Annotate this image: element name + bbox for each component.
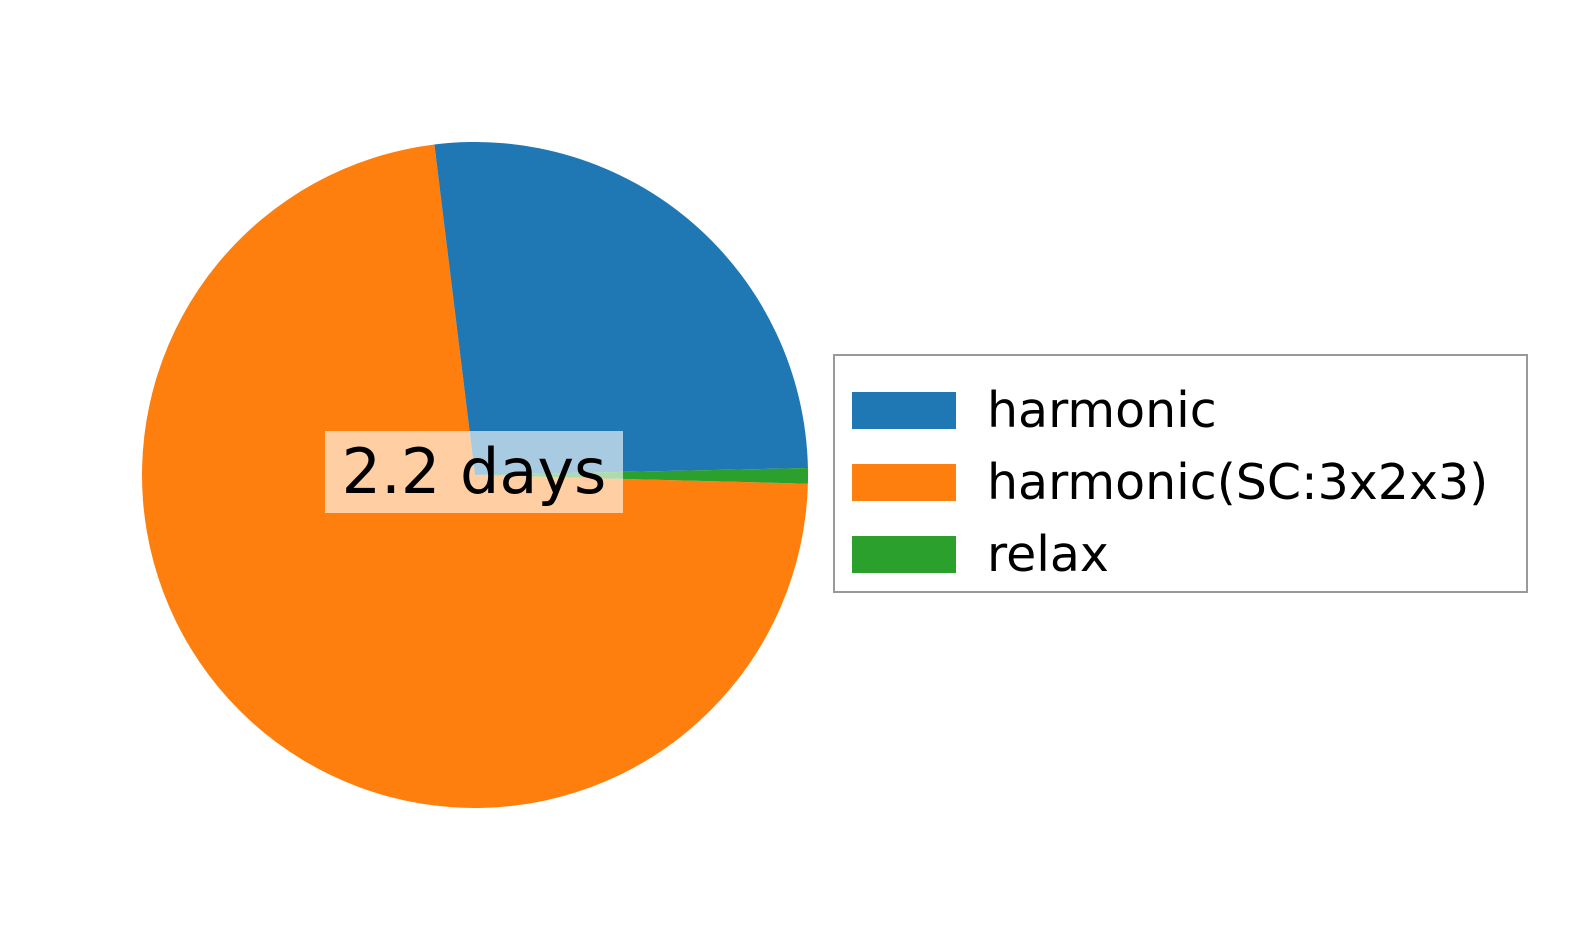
legend-label-relax: relax xyxy=(987,530,1109,579)
legend-swatch-harmonic-sc-3x2x3 xyxy=(852,464,956,501)
legend-entry-harmonic[interactable]: harmonic xyxy=(852,374,1488,446)
legend-swatch-relax xyxy=(852,536,956,573)
legend-label-harmonic-sc-3x2x3: harmonic(SC:3x2x3) xyxy=(987,458,1488,507)
figure-canvas: 2.2 days harmonic harmonic(SC:3x2x3) rel… xyxy=(0,0,1584,951)
center-annotation-box: 2.2 days xyxy=(325,431,623,513)
legend-swatch-harmonic xyxy=(852,392,956,429)
legend-box: harmonic harmonic(SC:3x2x3) relax xyxy=(833,354,1528,593)
legend-items: harmonic harmonic(SC:3x2x3) relax xyxy=(852,374,1488,590)
pie-slice-harmonic[interactable] xyxy=(434,142,808,475)
legend-label-harmonic: harmonic xyxy=(987,386,1217,435)
legend-entry-relax[interactable]: relax xyxy=(852,518,1488,590)
legend-entry-harmonic-sc-3x2x3[interactable]: harmonic(SC:3x2x3) xyxy=(852,446,1488,518)
center-annotation-text: 2.2 days xyxy=(342,441,607,503)
